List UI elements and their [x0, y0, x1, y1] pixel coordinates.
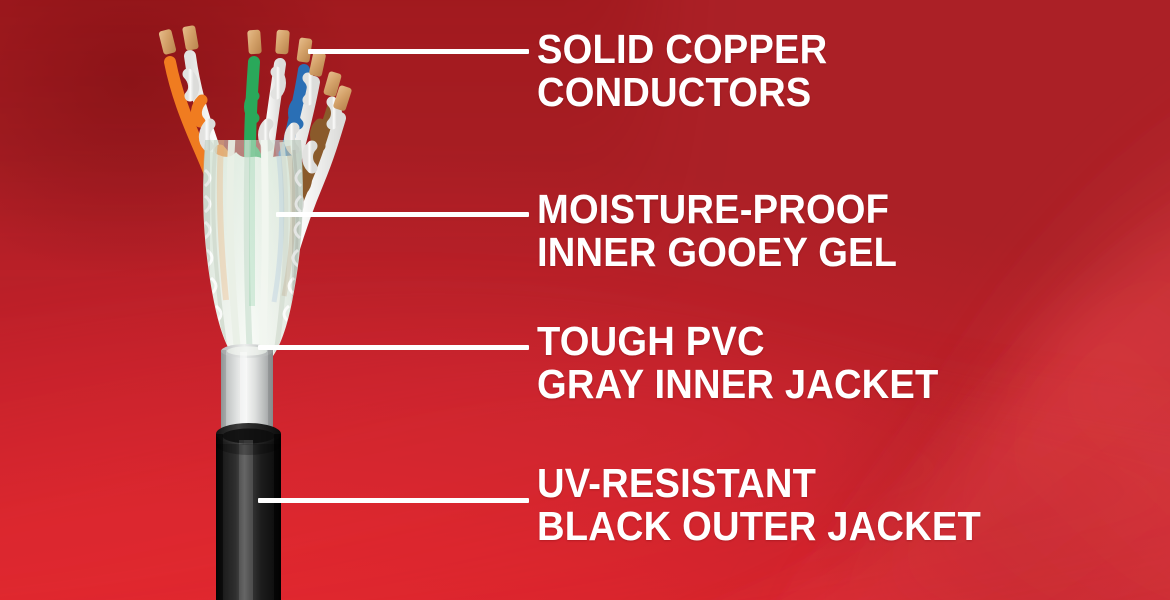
leader-line-tough-pvc-gray-inner-jacket	[258, 345, 529, 350]
callout-line-1: SOLID COPPER	[537, 28, 827, 71]
callout-tough-pvc-gray-inner-jacket: TOUGH PVC GRAY INNER JACKET	[537, 320, 969, 407]
callout-line-2: GRAY INNER JACKET	[537, 363, 938, 406]
leader-line-moisture-proof-inner-gooey-gel	[276, 212, 529, 217]
callout-line-2: CONDUCTORS	[537, 71, 827, 114]
callout-uv-resistant-black-outer-jacket: UV-RESISTANT BLACK OUTER JACKET	[537, 462, 1014, 549]
callout-line-2: INNER GOOEY GEL	[537, 231, 897, 274]
leader-line-uv-resistant-black-outer-jacket	[258, 498, 529, 503]
leader-line-solid-copper-conductors	[308, 49, 529, 54]
cable-infographic: SOLID COPPER CONDUCTORS MOISTURE-PROOF I…	[0, 0, 1170, 600]
callout-line-1: UV-RESISTANT	[537, 462, 981, 505]
callout-line-1: MOISTURE-PROOF	[537, 188, 897, 231]
background-vignette-top-left	[0, 0, 440, 360]
callout-moisture-proof-inner-gooey-gel: MOISTURE-PROOF INNER GOOEY GEL	[537, 188, 924, 275]
callout-solid-copper-conductors: SOLID COPPER CONDUCTORS	[537, 28, 849, 115]
callout-line-1: TOUGH PVC	[537, 320, 938, 363]
callout-line-2: BLACK OUTER JACKET	[537, 505, 981, 548]
